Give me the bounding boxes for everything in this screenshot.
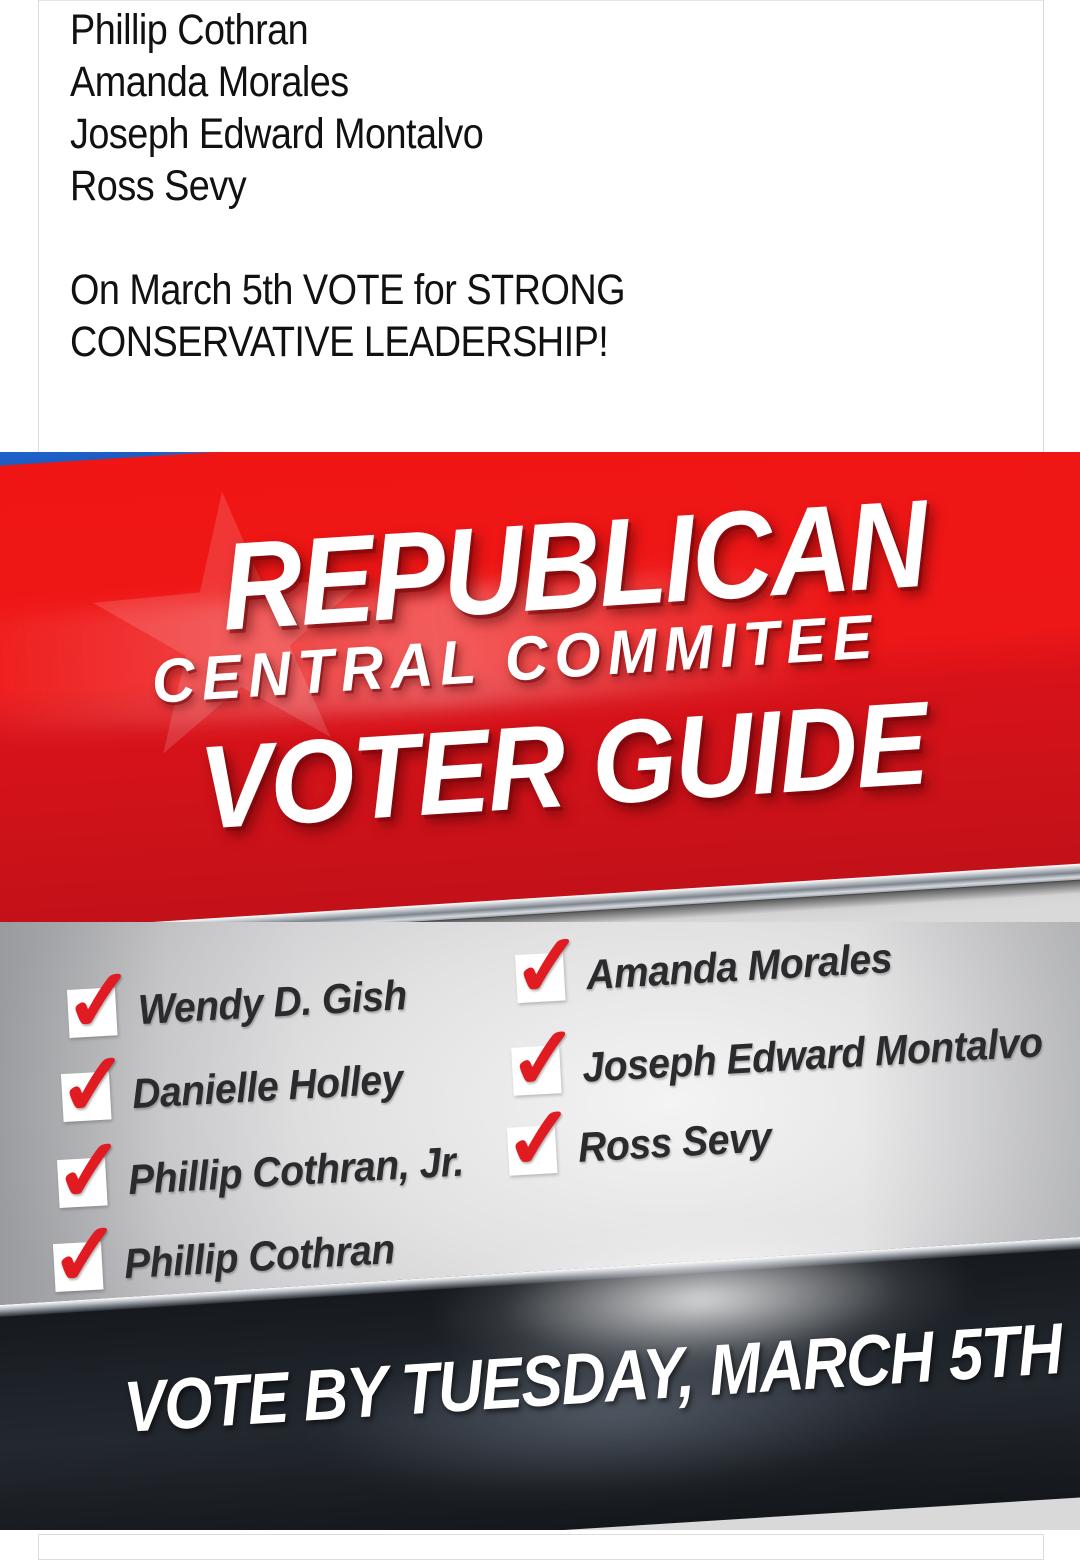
candidate-name: Amanda Morales [585, 934, 893, 999]
post-footer-strip [38, 1534, 1044, 1560]
voter-guide-flyer-image[interactable]: REPUBLICAN CENTRAL COMMITEE VOTER GUIDE … [0, 452, 1080, 1530]
post-name-line: Amanda Morales [70, 56, 915, 108]
checkmark-icon: ✓ [52, 1131, 122, 1213]
checkbox-icon: ✓ [67, 987, 118, 1038]
post-cta-line: CONSERVATIVE LEADERSHIP! [70, 316, 915, 368]
candidate-name: Joseph Edward Montalvo [581, 1018, 1044, 1092]
post-name-line: Phillip Cothran [70, 4, 915, 56]
red-panel-sheen [0, 542, 1080, 740]
checkmark-icon: ✓ [501, 1098, 571, 1180]
checklist-item: ✓ Joseph Edward Montalvo [511, 1016, 1078, 1095]
checklist-item: ✓ Danielle Holley [61, 1054, 424, 1122]
checkmark-icon: ✓ [506, 1018, 576, 1100]
post-screenshot: Phillip Cothran Amanda Morales Joseph Ed… [0, 0, 1080, 1567]
checklist-item: ✓ Ross Sevy [507, 1112, 787, 1175]
checkmark-icon: ✓ [47, 1215, 117, 1297]
candidate-name: Wendy D. Gish [137, 971, 408, 1034]
candidate-name: Phillip Cothran [123, 1225, 396, 1288]
checkbox-icon: ✓ [53, 1241, 104, 1292]
checkmark-icon: ✓ [55, 1045, 125, 1127]
flyer-red-panel [0, 452, 1080, 939]
post-body: Phillip Cothran Amanda Morales Joseph Ed… [70, 4, 1030, 368]
post-top-divider [38, 0, 1044, 1]
checkmark-icon: ✓ [61, 961, 131, 1043]
checklist-item: ✓ Amanda Morales [515, 933, 916, 1003]
post-cta-line: On March 5th VOTE for STRONG [70, 264, 915, 316]
post-name-line: Joseph Edward Montalvo [70, 108, 915, 160]
candidate-name: Ross Sevy [577, 1113, 773, 1172]
post-name-line: Ross Sevy [70, 160, 915, 212]
checkbox-icon: ✓ [511, 1045, 562, 1096]
post-text-area: Phillip Cothran Amanda Morales Joseph Ed… [0, 0, 1080, 452]
checkmark-icon: ✓ [510, 926, 580, 1008]
checkbox-icon: ✓ [507, 1125, 558, 1176]
post-right-border [1043, 0, 1044, 452]
post-paragraph-gap [70, 212, 1030, 264]
candidate-name: Phillip Cothran, Jr. [127, 1137, 465, 1204]
checkbox-icon: ✓ [515, 952, 566, 1003]
candidate-name: Danielle Holley [131, 1055, 404, 1118]
post-left-border [38, 0, 39, 452]
checklist-item: ✓ Phillip Cothran, Jr. [57, 1136, 490, 1208]
checklist-item: ✓ Wendy D. Gish [67, 970, 428, 1038]
checkbox-icon: ✓ [57, 1157, 108, 1208]
checkbox-icon: ✓ [61, 1071, 112, 1122]
